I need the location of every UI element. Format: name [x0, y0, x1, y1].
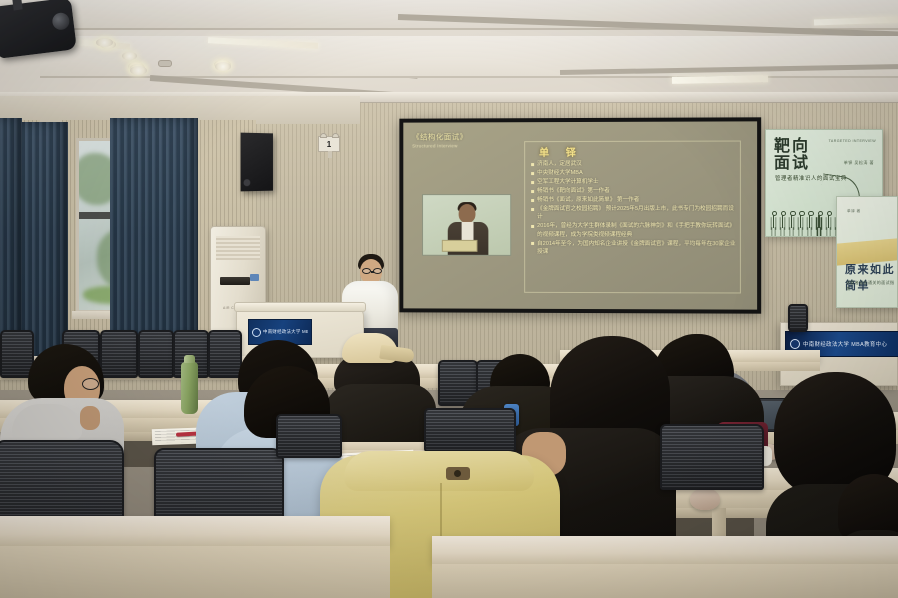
- chair[interactable]: [208, 330, 242, 378]
- slide-bullet: 畅销书《靶向面试》第一作者: [531, 187, 736, 196]
- poster-title-en: TARGETED INTERVIEW: [829, 139, 876, 144]
- computer-mouse[interactable]: [690, 488, 720, 510]
- classroom-photo: 1 《结构化面试》 Structured Interview 单 铎 济南人，定…: [0, 0, 898, 598]
- university-seal-icon: [252, 328, 261, 337]
- chair-back-right[interactable]: [788, 304, 808, 332]
- slide-bullet: 中央财经大学MBA: [531, 169, 736, 178]
- curtain-left[interactable]: [18, 122, 68, 364]
- ceiling-strip-light: [672, 75, 768, 84]
- chair[interactable]: [138, 330, 174, 378]
- beige-baseball-cap: [342, 333, 398, 363]
- ceiling-projector: [0, 0, 77, 59]
- downlight: [215, 62, 231, 71]
- slide-content-box: 单 铎 济南人，定居武汉 中央财经大学MBA 空军工程大学计算机学士 畅销书《靶…: [524, 141, 741, 294]
- poster2-tagline: 求职者轻松通关的面试指南: [846, 280, 897, 292]
- poster-author: 单铎 吴松涛 著: [844, 160, 874, 166]
- poster-title: 靶向 面试: [774, 138, 810, 172]
- slide-bullet: 《金牌面试官之校园招聘》 预计2025年5月出版上市，此书专门为校园招聘而设计: [531, 205, 736, 222]
- poster2-author: 单铎 著: [847, 209, 861, 214]
- university-seal-icon: [790, 339, 800, 349]
- podium-banner-text: 中南财经政法大学 MBA教育中心: [803, 340, 896, 348]
- slide-header-cn: 《结构化面试》: [412, 131, 467, 142]
- projection-screen: 《结构化面试》 Structured Interview 单 铎 济南人，定居武…: [399, 117, 761, 313]
- slide-speaker-name: 单 铎: [539, 144, 583, 159]
- projector-mount: [12, 0, 23, 10]
- slide-bullet-list: 济南人，定居武汉 中央财经大学MBA 空军工程大学计算机学士 畅销书《靶向面试》…: [531, 160, 736, 258]
- slide-speaker-photo: [422, 194, 511, 256]
- slide-bullet: 畅销书《面试，原来如此简单》 第一作者: [531, 196, 736, 205]
- slide-bullet: 自2014年至今，为国内知名企业讲授《金牌面试官》课程，平均每年在30家企业授课: [531, 240, 736, 257]
- emergency-light-number: 1: [321, 140, 337, 149]
- slide-header-en: Structured Interview: [412, 143, 467, 148]
- chair-mid-center[interactable]: [424, 408, 516, 452]
- slide-bullet: 空军工程大学计算机学士: [531, 178, 736, 187]
- hand: [80, 406, 100, 430]
- book-poster-secondary: 单铎 著 原来如此简单 求职者轻松通关的面试指南: [836, 196, 898, 308]
- slide-bullet: 2016年，曾经为大学生群体录制《面试的六脉神剑》和《手把手教你玩转面试》的视频…: [531, 222, 736, 239]
- smoke-detector-icon: [158, 60, 172, 67]
- chair-mid-right[interactable]: [660, 424, 764, 490]
- curtain-edge[interactable]: [0, 118, 22, 366]
- slide-bullet: 济南人，定居武汉: [531, 160, 736, 169]
- slide-header: 《结构化面试》 Structured Interview: [412, 131, 467, 148]
- desk-foreground-left: [0, 516, 390, 546]
- curtain-center[interactable]: [110, 118, 198, 366]
- lectern-sign-text: 中南财经政法大学 MBA: [263, 329, 308, 335]
- downlight: [122, 52, 137, 60]
- desk-foreground-right: [432, 536, 898, 564]
- chair-mid-left[interactable]: [276, 414, 342, 458]
- downlight: [130, 66, 147, 75]
- downlight: [96, 38, 113, 47]
- wall-speaker-icon: [241, 133, 273, 192]
- emergency-light: 1: [318, 136, 340, 152]
